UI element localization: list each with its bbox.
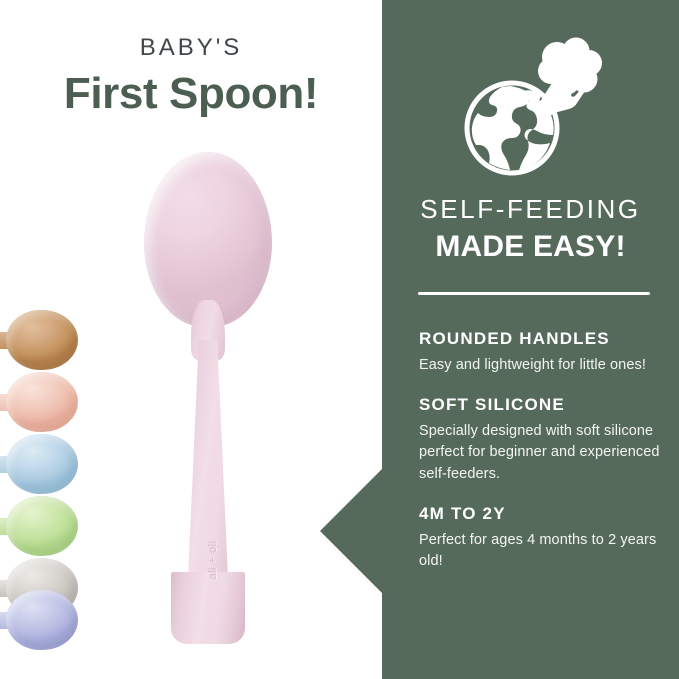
swatch-spoon-light-green	[0, 496, 88, 558]
right-panel-title-line-1: SELF-FEEDING	[382, 196, 679, 222]
headline-block: BABY'S First Spoon!	[0, 36, 382, 116]
feature-body: Specially designed with soft silicone pe…	[419, 421, 661, 485]
spoon-bowl	[6, 590, 78, 650]
brand-emboss: ali + oli	[201, 513, 225, 607]
spoon-bowl	[6, 434, 78, 494]
feature-title: 4M TO 2Y	[419, 505, 661, 524]
swatch-spoon-tan	[0, 310, 88, 372]
feature-title: ROUNDED HANDLES	[419, 330, 661, 349]
swatch-spoon-periwinkle	[0, 590, 88, 652]
product-infographic: BABY'S First Spoon!	[0, 0, 679, 679]
page-title: First Spoon!	[0, 60, 382, 116]
feature-item-rounded-handles: ROUNDED HANDLES Easy and lightweight for…	[419, 330, 661, 376]
spoon-bowl	[6, 496, 78, 556]
swatch-spoon-light-blue	[0, 434, 88, 496]
feature-title: SOFT SILICONE	[419, 396, 661, 415]
main-product-spoon: ali + oli	[128, 152, 288, 644]
page-title-eyebrow: BABY'S	[0, 36, 382, 60]
spoon-bowl	[6, 310, 78, 370]
feature-body: Perfect for ages 4 months to 2 years old…	[419, 530, 661, 573]
feature-item-age-range: 4M TO 2Y Perfect for ages 4 months to 2 …	[419, 505, 661, 573]
right-panel-title-line-2: MADE EASY!	[382, 222, 679, 262]
swatch-spoon-peach	[0, 372, 88, 434]
spoon-bowl	[6, 372, 78, 432]
globe-with-broccoli-icon	[382, 22, 679, 182]
right-panel-title-block: SELF-FEEDING MADE EASY!	[382, 196, 679, 262]
feature-body: Easy and lightweight for little ones!	[419, 355, 661, 376]
feature-list: ROUNDED HANDLES Easy and lightweight for…	[419, 330, 661, 593]
feature-item-soft-silicone: SOFT SILICONE Specially designed with so…	[419, 396, 661, 485]
title-divider	[418, 292, 650, 295]
left-panel: BABY'S First Spoon!	[0, 0, 382, 679]
